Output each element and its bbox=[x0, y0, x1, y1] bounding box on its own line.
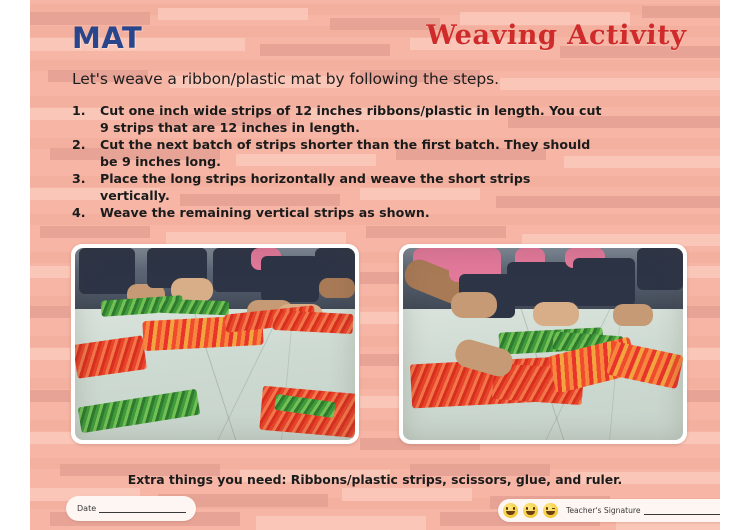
list-item: 4. Weave the remaining vertical strips a… bbox=[72, 205, 602, 222]
intro-text: Let's weave a ribbon/plastic mat by foll… bbox=[72, 70, 499, 88]
activity-photo-left bbox=[71, 244, 359, 444]
date-label: Date bbox=[77, 504, 96, 513]
activity-photo-right bbox=[399, 244, 687, 444]
worksheet-page: MAT Weaving Activity Let's weave a ribbo… bbox=[0, 0, 750, 530]
date-field[interactable]: Date bbox=[66, 496, 196, 521]
happy-smiley-icon bbox=[523, 503, 538, 518]
laughing-smiley-icon bbox=[503, 503, 518, 518]
step-number: 2. bbox=[72, 137, 100, 170]
step-number: 3. bbox=[72, 171, 100, 204]
signature-label: Teacher's Signature bbox=[566, 506, 641, 515]
steps-list: 1. Cut one inch wide strips of 12 inches… bbox=[72, 103, 602, 223]
activity-title: Weaving Activity bbox=[425, 20, 687, 51]
step-text: Weave the remaining vertical strips as s… bbox=[100, 205, 602, 222]
date-input-rule[interactable] bbox=[99, 503, 186, 513]
step-text: Place the long strips horizontally and w… bbox=[100, 171, 602, 204]
teacher-signature-field[interactable]: Teacher's Signature bbox=[498, 499, 720, 522]
worksheet-sheet: MAT Weaving Activity Let's weave a ribbo… bbox=[30, 0, 720, 530]
step-text: Cut the next batch of strips shorter tha… bbox=[100, 137, 602, 170]
photo-image bbox=[75, 248, 355, 440]
extra-materials-text: Extra things you need: Ribbons/plastic s… bbox=[30, 472, 720, 487]
step-text: Cut one inch wide strips of 12 inches ri… bbox=[100, 103, 602, 136]
signature-input-rule[interactable] bbox=[644, 505, 720, 515]
list-item: 1. Cut one inch wide strips of 12 inches… bbox=[72, 103, 602, 136]
step-number: 1. bbox=[72, 103, 100, 136]
winking-smiley-icon bbox=[543, 503, 558, 518]
list-item: 3. Place the long strips horizontally an… bbox=[72, 171, 602, 204]
photo-image bbox=[403, 248, 683, 440]
step-number: 4. bbox=[72, 205, 100, 222]
page-title: MAT bbox=[72, 21, 142, 55]
list-item: 2. Cut the next batch of strips shorter … bbox=[72, 137, 602, 170]
